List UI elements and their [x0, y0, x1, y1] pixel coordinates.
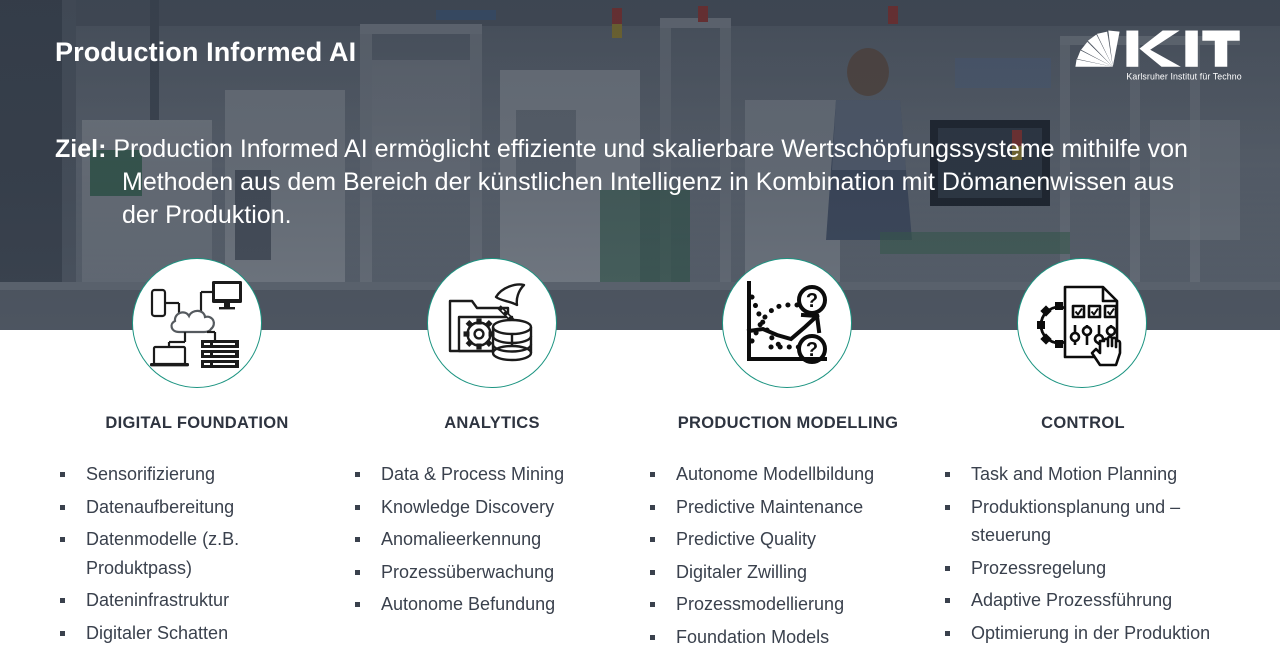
- icon-circle-production-modelling: ? ?: [722, 258, 852, 388]
- list-item: Prozessmodellierung: [638, 590, 938, 619]
- data-mining-icon: [446, 279, 538, 367]
- list-item: Sensorifizierung: [48, 460, 338, 489]
- page-title: Production Informed AI: [55, 37, 356, 68]
- list-item: Optimierung in der Produktion: [933, 619, 1243, 648]
- list-item: Task and Motion Planning: [933, 460, 1243, 489]
- list-item: Produktionsplanung und –steuerung: [933, 493, 1243, 550]
- list-item: Data & Process Mining: [343, 460, 633, 489]
- kit-logo-tagline: Karlsruher Institut für Technologie: [1126, 71, 1242, 81]
- cloud-network-icon: [149, 278, 245, 368]
- column-heading-analytics: ANALYTICS: [444, 414, 540, 433]
- list-item: Adaptive Prozessführung: [933, 586, 1243, 615]
- list-item: Autonome Modellbildung: [638, 460, 938, 489]
- kit-logo-mark: Karlsruher Institut für Technologie: [1072, 26, 1242, 83]
- list-item: Digitaler Zwilling: [638, 558, 938, 587]
- list-item: Knowledge Discovery: [343, 493, 633, 522]
- bullet-list-production-modelling: Autonome Modellbildung Predictive Mainte…: [638, 460, 938, 655]
- list-item: Foundation Models: [638, 623, 938, 652]
- goal-text: Production Informed AI ermöglicht effizi…: [106, 135, 1188, 229]
- list-item: Datenaufbereitung: [48, 493, 338, 522]
- goal-statement: Ziel: Production Informed AI ermöglicht …: [55, 133, 1215, 232]
- bullet-list-digital-foundation: Sensorifizierung Datenaufbereitung Daten…: [48, 460, 338, 651]
- list-item: Datenmodelle (z.B. Produktpass): [48, 525, 338, 582]
- column-heading-production-modelling: PRODUCTION MODELLING: [678, 414, 899, 433]
- column-heading-digital-foundation: DIGITAL FOUNDATION: [105, 414, 288, 433]
- goal-label: Ziel:: [55, 135, 106, 163]
- list-item: Prozessregelung: [933, 554, 1243, 583]
- settings-control-icon: [1037, 279, 1127, 367]
- icon-circle-analytics: [427, 258, 557, 388]
- list-item: Digitaler Schatten: [48, 619, 338, 648]
- icon-circle-digital-foundation: [132, 258, 262, 388]
- prediction-chart-icon: ? ?: [741, 279, 833, 367]
- kit-logo: Karlsruher Institut für Technologie: [1072, 26, 1242, 83]
- presentation-slide: Production Informed AI Ziel: Production …: [0, 0, 1280, 663]
- list-item: Anomalieerkennung: [343, 525, 633, 554]
- list-item: Prozessüberwachung: [343, 558, 633, 587]
- list-item: Autonome Befundung: [343, 590, 633, 619]
- svg-text:?: ?: [806, 339, 818, 361]
- list-item: Dateninfrastruktur: [48, 586, 338, 615]
- bullet-list-analytics: Data & Process Mining Knowledge Discover…: [343, 460, 633, 623]
- column-heading-control: CONTROL: [1041, 414, 1125, 433]
- list-item: Predictive Maintenance: [638, 493, 938, 522]
- icon-circle-control: [1017, 258, 1147, 388]
- list-item: Predictive Quality: [638, 525, 938, 554]
- svg-text:?: ?: [806, 290, 818, 312]
- bullet-list-control: Task and Motion Planning Produktionsplan…: [933, 460, 1243, 651]
